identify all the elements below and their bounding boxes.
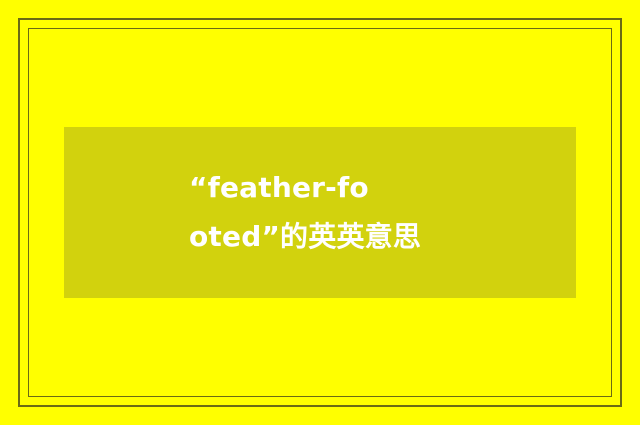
title-text-block: “feather-fo oted”的英英意思 — [189, 164, 451, 260]
poster-canvas: “feather-fo oted”的英英意思 — [0, 0, 640, 425]
title-card: “feather-fo oted”的英英意思 — [64, 127, 576, 298]
title-line-1: “feather-fo — [189, 164, 451, 212]
title-line-2: oted”的英英意思 — [189, 213, 451, 261]
